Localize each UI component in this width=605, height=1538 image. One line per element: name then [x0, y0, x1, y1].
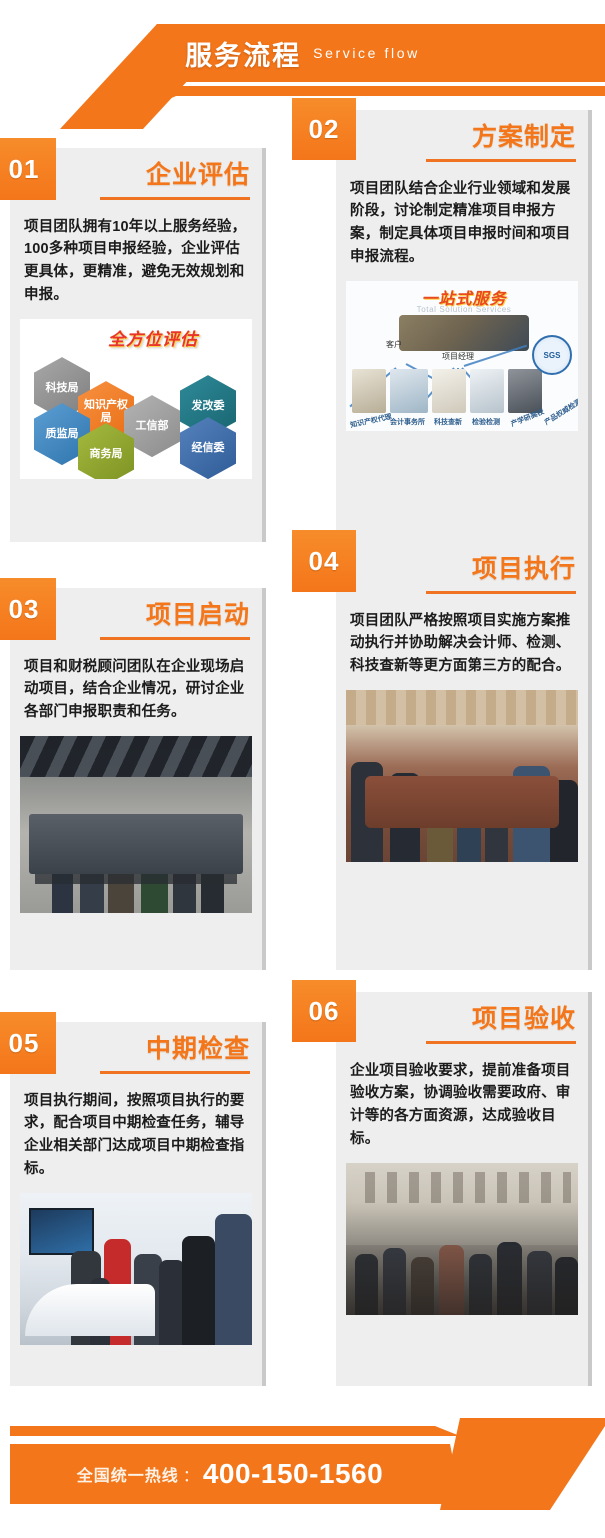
card-media-photo: [20, 1193, 252, 1345]
onestop-node-thumb: [432, 369, 466, 413]
hotline-colon: ：: [183, 1462, 199, 1486]
onestop-node-thumb: [508, 369, 542, 413]
card-title: 项目启动: [22, 602, 250, 630]
card-title: 中期检查: [22, 1036, 250, 1064]
onestop-node-label: 知识产权代理: [349, 412, 392, 431]
card-description: 项目团队结合企业行业领域和发展阶段，讨论制定精准项目申报方案，制定具体项目申报时…: [336, 162, 588, 282]
hotline-label: 全国统一热线: [77, 1462, 179, 1486]
card-media-photo: [346, 1163, 578, 1315]
card-media-onestop-diagram: 一站式服务 Total Solution Services 客户 项目经理 SG…: [346, 281, 578, 431]
hotline-group: 全国统一热线 ： 400-150-1560: [10, 1444, 450, 1504]
card-description: 项目团队拥有10年以上服务经验，100多种项目申报经验，企业评估更具体，更精准，…: [10, 200, 262, 320]
header-title-group: 服务流程 Service flow: [0, 24, 605, 82]
hex-diagram: 全方位评估 科技局 知识产权局 发改委 质监局 工信部 商务局 经信委: [20, 319, 252, 479]
card-description: 企业项目验收要求，提前准备项目验收方案，协调验收需要政府、审计等的各方面资源，达…: [336, 1044, 588, 1164]
card-media-photo: [346, 690, 578, 862]
card-title: 方案制定: [348, 124, 576, 152]
card-title: 企业评估: [22, 162, 250, 190]
card-description: 项目和财税顾问团队在企业现场启动项目，结合企业情况，研讨企业各部门申报职责和任务…: [10, 640, 262, 737]
photo-figures: [20, 1193, 252, 1345]
photo-figures: [346, 690, 578, 862]
step-number-badge: 01: [0, 138, 56, 200]
onestop-subtitle: Total Solution Services: [417, 305, 512, 314]
card-title: 项目执行: [348, 556, 576, 584]
onestop-hub-photo: [399, 315, 529, 351]
photo-acceptance-meeting: [346, 1163, 578, 1315]
card-header: 方案制定: [336, 110, 588, 162]
onestop-node-thumb: [390, 369, 428, 413]
onestop-node-label: 产品权威检测: [543, 397, 578, 428]
hotline-number[interactable]: 400-150-1560: [203, 1458, 383, 1490]
photo-conference-room: [20, 736, 252, 913]
photo-figures: [346, 1163, 578, 1315]
page-footer: 全国统一热线 ： 400-150-1560: [0, 1418, 605, 1538]
card-description: 项目团队严格按照项目实施方案推动执行并协助解决会计师、检测、科技查新等更方面第三…: [336, 594, 588, 691]
step-number-badge: 02: [292, 98, 356, 160]
step-number-badge: 05: [0, 1012, 56, 1074]
card-title: 项目验收: [348, 1006, 576, 1034]
service-flow-page: 服务流程 Service flow 01 企业评估 项目团队拥有10年以上服务经…: [0, 0, 605, 1538]
step-card-04[interactable]: 04 项目执行 项目团队严格按照项目实施方案推动执行并协助解决会计师、检测、科技…: [336, 542, 592, 970]
onestop-node-thumb: [352, 369, 386, 413]
onestop-node-thumb: [470, 369, 504, 413]
onestop-client-label: 客户: [386, 339, 402, 350]
onestop-diagram: 一站式服务 Total Solution Services 客户 项目经理 SG…: [346, 281, 578, 431]
step-card-03[interactable]: 03 项目启动 项目和财税顾问团队在企业现场启动项目，结合企业情况，研讨企业各部…: [10, 588, 266, 970]
page-header: 服务流程 Service flow: [0, 0, 605, 110]
hex-node-jingxin: 经信委: [180, 417, 236, 479]
card-header: 项目验收: [336, 992, 588, 1044]
photo-showroom-visit: [20, 1193, 252, 1345]
page-subtitle: Service flow: [313, 45, 420, 61]
card-description: 项目执行期间，按照项目执行的要求，配合项目中期检查任务，辅导企业相关部门达成项目…: [10, 1074, 262, 1194]
onestop-manager-label: 项目经理: [442, 351, 474, 362]
card-media-hex-diagram: 全方位评估 科技局 知识产权局 发改委 质监局 工信部 商务局 经信委: [20, 319, 252, 479]
step-card-02[interactable]: 02 方案制定 项目团队结合企业行业领域和发展阶段，讨论制定精准项目申报方案，制…: [336, 110, 592, 542]
step-card-01[interactable]: 01 企业评估 项目团队拥有10年以上服务经验，100多种项目申报经验，企业评估…: [10, 148, 266, 542]
step-number-badge: 06: [292, 980, 356, 1042]
onestop-node-label: 科技查新: [434, 417, 462, 427]
photo-figures: [20, 736, 252, 913]
hex-diagram-title: 全方位评估: [108, 325, 198, 350]
page-title: 服务流程: [185, 34, 301, 73]
step-number-badge: 04: [292, 530, 356, 592]
onestop-node-label: 会计事务所: [390, 417, 425, 427]
header-accent-stripe: [0, 86, 605, 96]
step-card-06[interactable]: 06 项目验收 企业项目验收要求，提前准备项目验收方案，协调验收需要政府、审计等…: [336, 992, 592, 1386]
card-header: 项目执行: [336, 542, 588, 594]
onestop-certification-seal: SGS: [532, 335, 572, 375]
step-number-badge: 03: [0, 578, 56, 640]
step-card-05[interactable]: 05 中期检查 项目执行期间，按照项目执行的要求，配合项目中期检查任务，辅导企业…: [10, 1022, 266, 1386]
photo-team-working: [346, 690, 578, 862]
onestop-node-label: 检验检测: [472, 417, 500, 427]
card-media-photo: [20, 736, 252, 913]
